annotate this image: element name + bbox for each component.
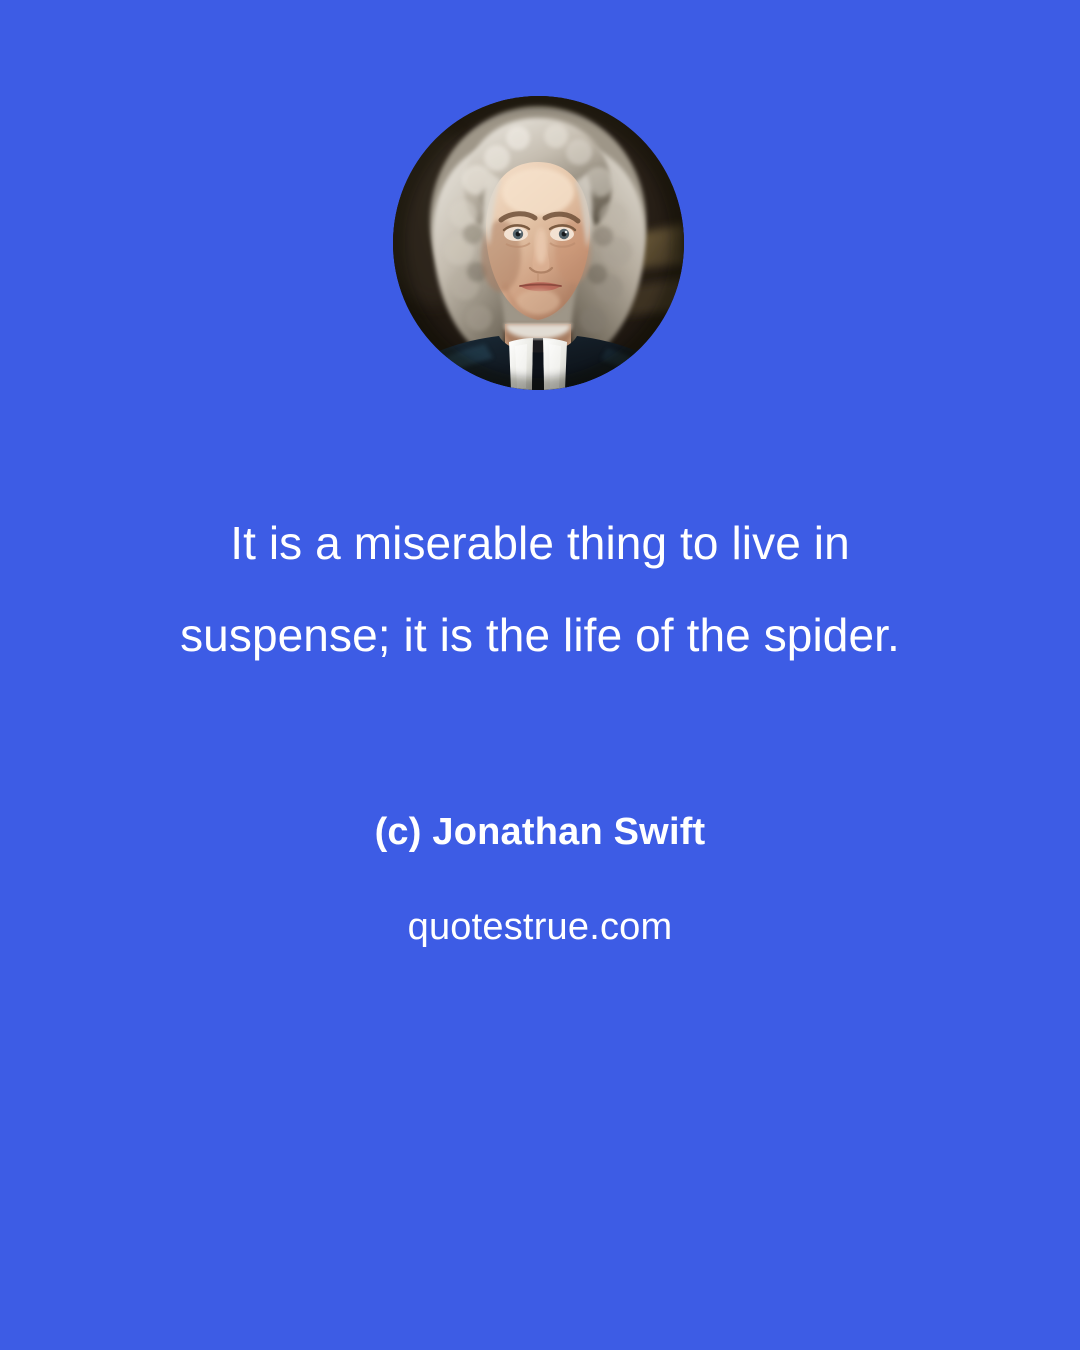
quote-line-2: suspense; it is the life of the spider. bbox=[60, 589, 1020, 681]
author-attribution: (c) Jonathan Swift bbox=[0, 805, 1080, 860]
site-credit: quotestrue.com bbox=[0, 900, 1080, 955]
quote-text: It is a miserable thing to live in suspe… bbox=[0, 497, 1080, 681]
attribution-block: (c) Jonathan Swift quotestrue.com bbox=[0, 805, 1080, 955]
quote-line-1: It is a miserable thing to live in bbox=[60, 497, 1020, 589]
author-portrait bbox=[393, 96, 684, 390]
portrait-avatar-icon bbox=[393, 96, 684, 390]
quote-card: It is a miserable thing to live in suspe… bbox=[0, 0, 1080, 1350]
